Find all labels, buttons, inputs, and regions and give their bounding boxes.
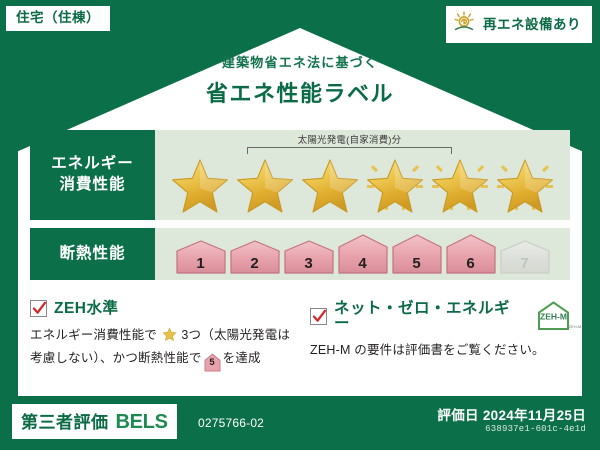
insulation-grade-value: 6 bbox=[466, 256, 474, 271]
net-zero-energy-checkbox[interactable] bbox=[310, 308, 327, 325]
star-icon bbox=[298, 151, 362, 213]
star-icon bbox=[233, 151, 297, 213]
insulation-performance-label: 断熱性能 bbox=[30, 228, 155, 280]
insulation-grade-badge: 6 bbox=[445, 233, 497, 275]
zeh-standard-checkbox[interactable] bbox=[30, 300, 47, 317]
svg-text:ZEH-M: ZEH-M bbox=[540, 312, 567, 322]
insulation-performance-row: 断熱性能 1 bbox=[30, 228, 570, 280]
zeh-m-logo: ZEH-M ZEH-M bbox=[536, 300, 582, 332]
insulation-performance-body: 1 2 bbox=[155, 228, 570, 280]
label-title: 省エネ性能ラベル bbox=[0, 76, 600, 108]
title-block: 建築物省エネ法に基づく 省エネ性能ラベル bbox=[0, 52, 600, 108]
renewable-badge-label: 再エネ設備あり bbox=[483, 18, 581, 32]
insulation-grade-value: 1 bbox=[196, 256, 204, 271]
renewable-equipment-badge: 再エネ設備あり bbox=[446, 6, 592, 43]
energy-label-line1: エネルギー bbox=[51, 154, 134, 175]
solar-annotation-bracket bbox=[247, 147, 452, 154]
zeh-standard-title: ZEH水準 bbox=[54, 301, 119, 317]
net-zero-energy-block: ネット・ゼロ・エネルギー ZEH-M ZEH-M ZEH-M の要件は評価書をご… bbox=[310, 300, 582, 360]
energy-label-line2: 消費性能 bbox=[59, 175, 125, 196]
energy-saving-performance-label: 住宅（住棟） 再エネ設備あり 建築物省エネ法に基づく 省エネ性能ラベル bbox=[0, 0, 600, 450]
svg-text:ZEH-M: ZEH-M bbox=[569, 324, 582, 329]
footer: 第三者評価 BELS 0275766-02 評価日 2024年11月25日 63… bbox=[0, 396, 600, 450]
zeh-standard-block: ZEH水準 エネルギー消費性能で 3つ（太陽光発電は考慮しない）、かつ断熱性能で… bbox=[30, 300, 298, 369]
insulation-grade-badge: 7 bbox=[499, 239, 551, 275]
solar-generation-annotation: 太陽光発電(自家消費)分 bbox=[247, 132, 452, 154]
insulation-grade-value: 7 bbox=[520, 256, 528, 271]
check-icon bbox=[32, 301, 47, 316]
star-icon bbox=[363, 151, 427, 213]
bels-evaluation-tag: 第三者評価 BELS bbox=[12, 404, 177, 439]
star-icon bbox=[493, 151, 557, 213]
insulation-grade-value: 2 bbox=[250, 256, 258, 271]
zeh-standard-header: ZEH水準 bbox=[30, 300, 298, 317]
insulation-grade-badge: 4 bbox=[337, 233, 389, 275]
evaluation-id: 638937e1-601c-4e1d bbox=[485, 424, 586, 434]
bels-en-label: BELS bbox=[116, 411, 168, 434]
insulation-grade-scale: 1 2 bbox=[175, 233, 551, 275]
solar-annotation-text: 太陽光発電(自家消費)分 bbox=[247, 132, 452, 146]
evaluation-date: 評価日 2024年11月25日 bbox=[437, 404, 586, 424]
zeh-desc-part3: を達成 bbox=[223, 351, 261, 365]
insulation-grade-value: 4 bbox=[358, 256, 366, 271]
building-type-tag: 住宅（住棟） bbox=[6, 6, 110, 31]
sun-icon bbox=[452, 10, 478, 39]
energy-star-rating bbox=[168, 151, 557, 213]
inline-grade-badge: 5 bbox=[204, 353, 221, 368]
energy-performance-body: 太陽光発電(自家消費)分 bbox=[155, 130, 570, 220]
star-icon bbox=[168, 151, 232, 213]
star-icon bbox=[428, 151, 492, 213]
net-zero-energy-description: ZEH-M の要件は評価書をご覧ください。 bbox=[310, 340, 582, 360]
evaluation-date-value: 2024年11月25日 bbox=[483, 408, 586, 423]
inline-grade-value: 5 bbox=[204, 353, 221, 372]
insulation-label-text: 断熱性能 bbox=[59, 244, 125, 265]
check-icon bbox=[312, 309, 327, 324]
insulation-grade-badge: 5 bbox=[391, 233, 443, 275]
zeh-standard-description: エネルギー消費性能で 3つ（太陽光発電は考慮しない）、かつ断熱性能で 5 を達成 bbox=[30, 325, 298, 369]
insulation-grade-value: 5 bbox=[412, 256, 420, 271]
insulation-grade-badge: 3 bbox=[283, 239, 335, 275]
bels-jp-label: 第三者評価 bbox=[21, 408, 109, 433]
energy-performance-label: エネルギー 消費性能 bbox=[30, 130, 155, 220]
star-icon bbox=[158, 331, 180, 345]
insulation-grade-badge: 1 bbox=[175, 239, 227, 275]
evaluation-date-label: 評価日 bbox=[437, 408, 478, 423]
net-zero-energy-header: ネット・ゼロ・エネルギー ZEH-M ZEH-M bbox=[310, 300, 582, 332]
insulation-grade-value: 3 bbox=[304, 256, 312, 271]
insulation-grade-badge: 2 bbox=[229, 239, 281, 275]
energy-performance-row: エネルギー 消費性能 太陽光発電(自家消費)分 bbox=[30, 130, 570, 220]
bels-number: 0275766-02 bbox=[198, 416, 264, 430]
net-zero-energy-title: ネット・ゼロ・エネルギー bbox=[334, 301, 525, 332]
label-subtitle: 建築物省エネ法に基づく bbox=[0, 52, 600, 71]
zeh-desc-part1: エネルギー消費性能で bbox=[30, 328, 157, 342]
